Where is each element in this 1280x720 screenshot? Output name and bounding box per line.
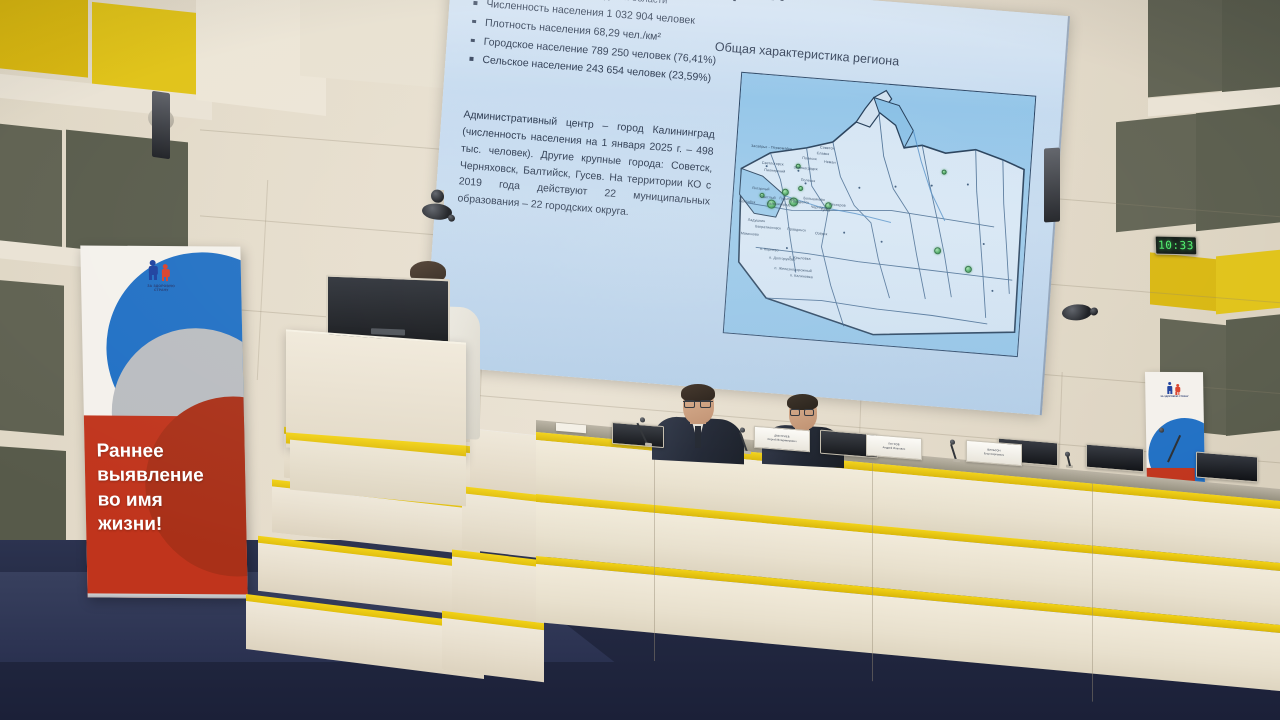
mic-base — [744, 451, 751, 455]
wall-panel-olive-right-3 — [1116, 114, 1196, 232]
wall-panel-yellow-right-2 — [1216, 248, 1280, 315]
logo-figure-red-icon — [160, 264, 171, 281]
mic-head-icon — [1159, 428, 1164, 433]
mic-head-icon — [640, 417, 645, 422]
riser-face — [462, 493, 546, 558]
logo-figure-blue-right-icon — [1166, 382, 1173, 394]
slide-content: ЛОГИЧЕСКИЙ ЦЕНТР алининградской области … — [424, 0, 1068, 415]
region-map: Заозёрье - Первомайск Светлогорск Пионер… — [723, 72, 1037, 357]
wall-speaker-right — [1044, 147, 1060, 222]
mic-head-icon — [1065, 452, 1070, 457]
slide-paragraph: Административный центр – город Калинингр… — [457, 107, 715, 228]
map-landmass — [724, 73, 1035, 356]
desk-seam-1 — [654, 443, 655, 661]
digital-clock: 10:33 — [1155, 236, 1198, 256]
desk-monitor-4 — [1086, 444, 1144, 473]
wall-panel-olive-right-1 — [1148, 0, 1224, 97]
mic-base — [645, 443, 652, 447]
mic-base — [953, 459, 960, 463]
banner-right-logo-text: ЗА ЗДОРОВУЮ СТРАНУ — [1157, 395, 1191, 398]
wall-panel-olive-3 — [0, 278, 64, 435]
rollup-banner-left: ЗА ЗДОРОВУЮСТРАНУ Раннее выявление во им… — [80, 245, 247, 598]
podium-monitor-stand — [371, 328, 405, 335]
banner-logo: ЗА ЗДОРОВУЮСТРАНУ — [131, 260, 192, 296]
logo-figure-blue-icon — [147, 260, 159, 280]
logo-figure-red-right-icon — [1174, 384, 1181, 395]
microphone-2 — [738, 427, 758, 453]
microphone-4 — [1062, 449, 1080, 468]
wall-panel-olive-right-2 — [1222, 0, 1280, 101]
stage-riser-side-2 — [462, 493, 546, 558]
banner-slogan-line: выявление — [97, 464, 236, 489]
nameplate-line: Сергей Владимирович — [767, 438, 796, 444]
banner-slogan-line: жизни! — [98, 512, 237, 537]
camera-lens-icon — [448, 214, 455, 221]
nameplate-3: ВИЛЬСОН Егор Сергеевич — [966, 440, 1022, 467]
map-label: Гусев — [821, 208, 831, 213]
mic-stem — [950, 444, 956, 460]
panelist-left-glasses-lens-l — [684, 400, 695, 408]
microphone-3 — [948, 439, 966, 460]
wall-panel-yellow-1 — [0, 0, 88, 78]
wall-panel-olive-right-6 — [1226, 312, 1280, 436]
camera-lens-right-icon — [1090, 307, 1098, 315]
microphone-right — [1158, 427, 1178, 464]
nameplate-2: ПЕТРОВ Андрей Олегович — [866, 434, 922, 461]
banner-logo-text: ЗА ЗДОРОВУЮСТРАНУ — [131, 284, 191, 293]
microphone-1 — [640, 417, 660, 445]
clock-time: 10:33 — [1158, 239, 1194, 253]
banner-slogan-line: во имя — [97, 488, 236, 513]
panelist-right-glasses-lens-r — [804, 409, 814, 416]
camera-dome-right-icon — [1062, 304, 1092, 322]
panelist-left — [652, 384, 744, 456]
ceiling-camera-icon — [418, 188, 466, 231]
banner-right-logo: ЗА ЗДОРОВУЮ СТРАНУ — [1161, 382, 1187, 400]
desk-seam-3 — [1092, 484, 1093, 702]
mic-head-icon — [740, 427, 745, 432]
desk-seam-2 — [872, 463, 873, 681]
map-label: Неман — [824, 160, 836, 165]
projection-screen: ЛОГИЧЕСКИЙ ЦЕНТР алининградской области … — [424, 0, 1070, 415]
banner-slogan-line: Раннее — [96, 440, 235, 465]
panelist-left-glasses-lens-r — [700, 400, 711, 408]
wall-panel-olive-1 — [0, 122, 62, 257]
slide-bullet-list: Численность населения 1 032 904 человек … — [469, 0, 773, 95]
conference-hall-photo: ЛОГИЧЕСКИЙ ЦЕНТР алининградской области … — [0, 0, 1280, 720]
nameplate-line: Андрей Олегович — [883, 446, 906, 452]
panelist-left-tie — [695, 426, 701, 448]
camera-dome-icon — [431, 189, 444, 203]
panelist-right-glasses-lens-l — [790, 409, 800, 416]
mic-stem — [739, 432, 747, 452]
banner-slogan: Раннее выявление во имя жизни! — [96, 440, 236, 538]
desk-monitor-5 — [1196, 452, 1258, 483]
nameplate-1: ДМИТРИЕВ Сергей Владимирович — [754, 426, 810, 453]
wall-camera-right — [1062, 299, 1106, 329]
wall-speaker-left — [152, 91, 170, 160]
mic-head-icon — [950, 439, 955, 444]
wall-panel-yellow-right — [1150, 252, 1220, 311]
panelist-right-hair — [787, 394, 818, 410]
nameplate-line: Егор Сергеевич — [984, 452, 1004, 458]
